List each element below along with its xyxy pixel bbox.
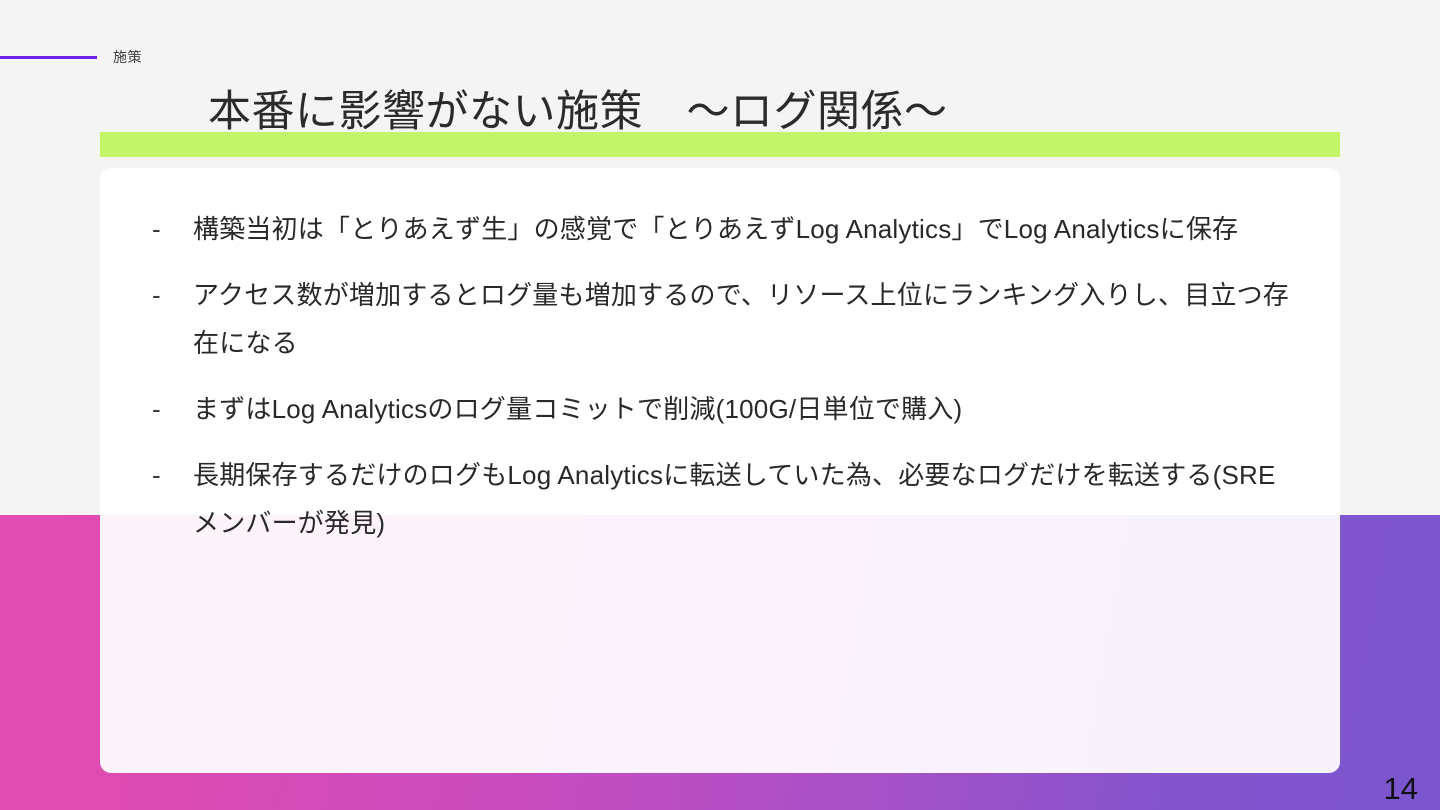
list-item-text: 長期保存するだけのログもLog Analyticsに転送していた為、必要なログだ… — [193, 452, 1300, 547]
bullet-marker-icon: - — [140, 206, 193, 253]
eyebrow-label: 施策 — [113, 47, 142, 67]
list-item: - アクセス数が増加するとログ量も増加するので、リソース上位にランキング入りし、… — [140, 272, 1300, 367]
bullet-marker-icon: - — [140, 452, 193, 499]
content-card: - 構築当初は「とりあえず生」の感覚で「とりあえずLog Analytics」で… — [100, 168, 1340, 773]
list-item-text: 構築当初は「とりあえず生」の感覚で「とりあえずLog Analytics」でLo… — [193, 206, 1300, 253]
breadcrumb: 施策 — [0, 44, 142, 70]
page-number: 14 — [1384, 773, 1418, 804]
eyebrow-rule-decoration — [0, 56, 97, 59]
list-item: - 長期保存するだけのログもLog Analyticsに転送していた為、必要なロ… — [140, 452, 1300, 547]
list-item: - 構築当初は「とりあえず生」の感覚で「とりあえずLog Analytics」で… — [140, 206, 1300, 253]
list-item: - まずはLog Analyticsのログ量コミットで削減(100G/日単位で購… — [140, 386, 1300, 433]
page-title: 本番に影響がない施策 〜ログ関係〜 — [208, 87, 948, 138]
bullet-marker-icon: - — [140, 386, 193, 433]
list-item-text: アクセス数が増加するとログ量も増加するので、リソース上位にランキング入りし、目立… — [193, 272, 1300, 367]
bullet-marker-icon: - — [140, 272, 193, 319]
slide-root: 施策 本番に影響がない施策 〜ログ関係〜 - 構築当初は「とりあえず生」の感覚で… — [0, 0, 1440, 810]
bullet-list: - 構築当初は「とりあえず生」の感覚で「とりあえずLog Analytics」で… — [140, 206, 1300, 547]
list-item-text: まずはLog Analyticsのログ量コミットで削減(100G/日単位で購入) — [193, 386, 1300, 433]
